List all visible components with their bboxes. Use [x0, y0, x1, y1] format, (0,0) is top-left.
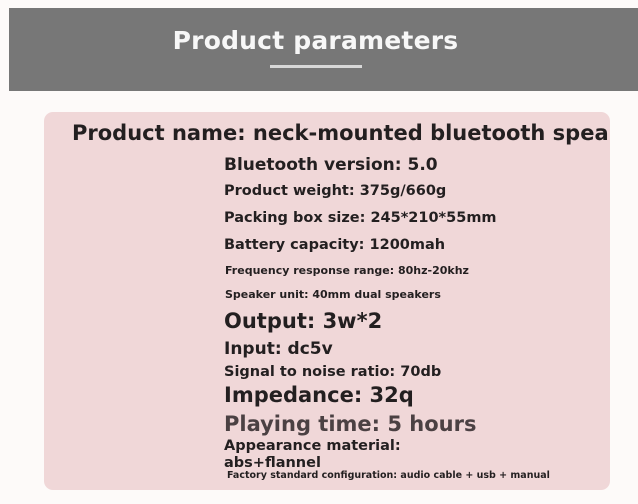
- spec-list: Product name: neck-mounted bluetooth spe…: [44, 112, 610, 490]
- title-underline: [270, 65, 362, 68]
- spec-row-impedance: Impedance: 32q: [224, 384, 414, 407]
- spec-row-factory-standard-configuration: Factory standard configuration: audio ca…: [227, 471, 550, 481]
- spec-row-product-weight: Product weight: 375g/660g: [224, 184, 446, 200]
- spec-row-playing-time: Playing time: 5 hours: [224, 413, 476, 436]
- spec-row-appearance-material: Appearance material: abs+flannel: [224, 438, 401, 472]
- page-title: Product parameters: [163, 27, 469, 55]
- spec-row-product-name: Product name: neck-mounted bluetooth spe…: [72, 122, 610, 145]
- spec-row-battery-capacity: Battery capacity: 1200mah: [224, 238, 445, 254]
- spec-row-speaker-unit: Speaker unit: 40mm dual speakers: [225, 289, 441, 301]
- product-parameters-page: Product parameters Product name: neck-mo…: [0, 0, 638, 504]
- spec-row-packing-box-size: Packing box size: 245*210*55mm: [224, 211, 497, 227]
- spec-row-input: Input: dc5v: [224, 340, 333, 358]
- spec-row-signal-to-noise-ratio: Signal to noise ratio: 70db: [224, 365, 441, 381]
- spec-row-frequency-response-range: Frequency response range: 80hz-20khz: [225, 265, 469, 277]
- spec-row-bluetooth-version: Bluetooth version: 5.0: [224, 156, 438, 174]
- header-banner: Product parameters: [9, 8, 638, 91]
- spec-row-output: Output: 3w*2: [224, 310, 382, 333]
- spec-panel: Product name: neck-mounted bluetooth spe…: [44, 112, 610, 490]
